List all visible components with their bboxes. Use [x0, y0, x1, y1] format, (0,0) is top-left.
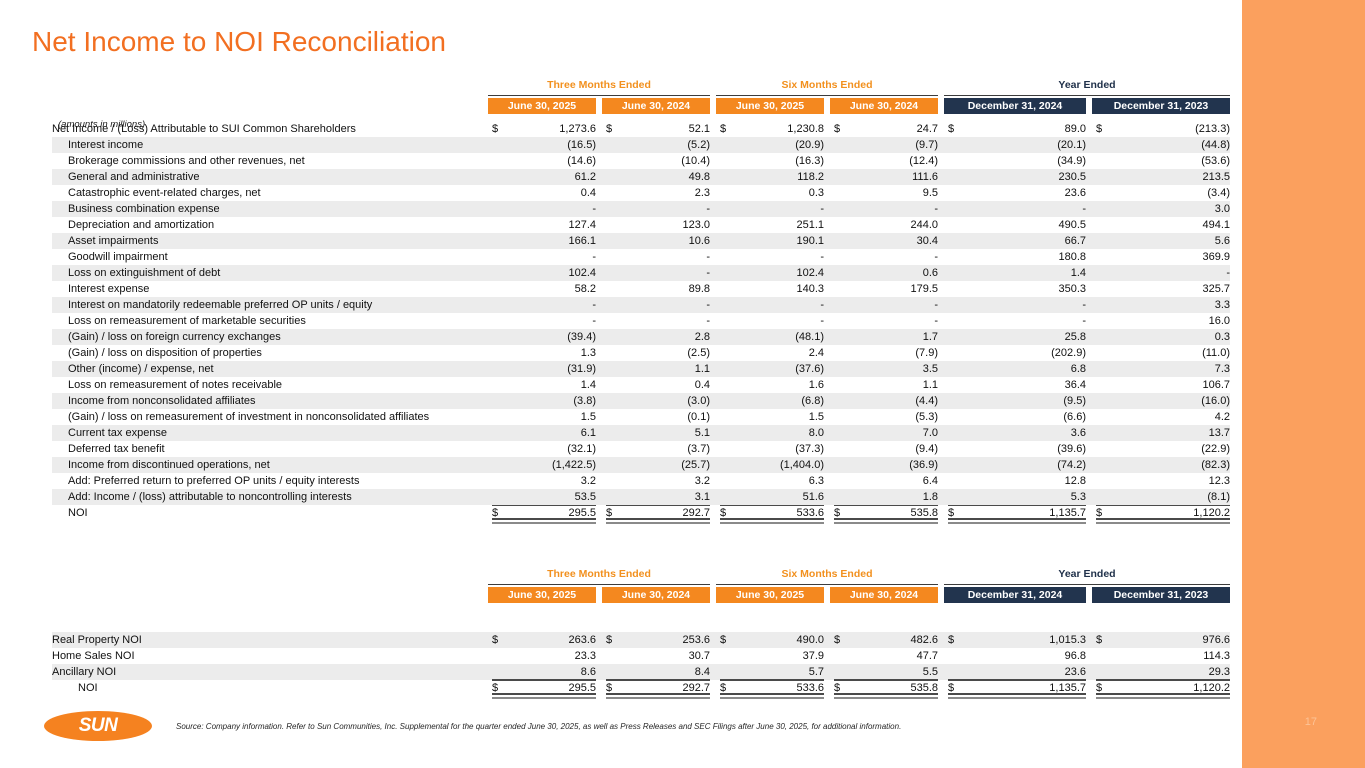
table-cell: 24.7	[842, 121, 938, 137]
table-cell: 3.5	[842, 361, 938, 377]
table-cell: (12.4)	[842, 153, 938, 169]
table-cell: -	[842, 201, 938, 217]
row-label: Catastrophic event-related charges, net	[52, 185, 261, 201]
table-row: Interest income(16.5)(5.2)(20.9)(9.7)(20…	[52, 137, 1230, 153]
total-rule-bottom-1	[834, 693, 938, 694]
table-cell: -	[614, 313, 710, 329]
column-header-4: June 30, 2024	[830, 587, 938, 603]
table-cell: 253.6	[614, 632, 710, 648]
table-cell: 5.6	[1104, 233, 1230, 249]
total-rule-bottom-1	[948, 518, 1086, 519]
table-row: Catastrophic event-related charges, net0…	[52, 185, 1230, 201]
table-row: Home Sales NOI23.330.737.947.796.8114.3	[52, 648, 1230, 664]
table-cell: 8.4	[614, 664, 710, 680]
row-label: Loss on remeasurement of notes receivabl…	[52, 377, 282, 393]
row-label: Add: Preferred return to preferred OP un…	[52, 473, 359, 489]
table-cell: 96.8	[956, 648, 1086, 664]
table-cell: (1,422.5)	[500, 457, 596, 473]
currency-symbol: $	[606, 632, 612, 648]
table-cell: (39.4)	[500, 329, 596, 345]
table-cell: 0.4	[614, 377, 710, 393]
column-header-6: December 31, 2023	[1092, 587, 1230, 603]
currency-symbol: $	[1096, 121, 1102, 137]
table-cell: -	[956, 297, 1086, 313]
table-cell: 6.4	[842, 473, 938, 489]
table-cell: (213.3)	[1104, 121, 1230, 137]
table-cell: 5.5	[842, 664, 938, 680]
table-row: NOI$295.5$292.7$533.6$535.8$1,135.7$1,12…	[52, 505, 1230, 521]
table-cell: (44.8)	[1104, 137, 1230, 153]
table-cell: (14.6)	[500, 153, 596, 169]
table-cell: 494.1	[1104, 217, 1230, 233]
total-rule-top	[834, 505, 938, 506]
table-cell: 102.4	[500, 265, 596, 281]
total-rule-bottom-2	[948, 522, 1086, 523]
header-group-1: Three Months Ended	[488, 567, 710, 585]
column-header-1: June 30, 2025	[488, 98, 596, 114]
table-row: Real Property NOI$263.6$253.6$490.0$482.…	[52, 632, 1230, 648]
row-label: (Gain) / loss on disposition of properti…	[52, 345, 262, 361]
table-row: Income from discontinued operations, net…	[52, 457, 1230, 473]
table-cell: 9.5	[842, 185, 938, 201]
table-cell: -	[500, 201, 596, 217]
table-cell: (7.9)	[842, 345, 938, 361]
total-rule-bottom-1	[834, 518, 938, 519]
table-cell: (39.6)	[956, 441, 1086, 457]
total-rule-top	[1096, 680, 1230, 681]
row-label: Other (income) / expense, net	[52, 361, 214, 377]
table-cell: -	[842, 297, 938, 313]
row-label: Ancillary NOI	[52, 664, 116, 680]
table-cell: 251.1	[728, 217, 824, 233]
header-group-3: Year Ended	[944, 78, 1230, 96]
table-cell: 36.4	[956, 377, 1086, 393]
table-cell: (9.7)	[842, 137, 938, 153]
row-label: Business combination expense	[52, 201, 220, 217]
table-cell: 1.8	[842, 489, 938, 505]
table-row: (Gain) / loss on disposition of properti…	[52, 345, 1230, 361]
table-cell: (20.9)	[728, 137, 824, 153]
table-cell: (1,404.0)	[728, 457, 824, 473]
table-row: Income from nonconsolidated affiliates(3…	[52, 393, 1230, 409]
table-cell: (32.1)	[500, 441, 596, 457]
table-cell: 350.3	[956, 281, 1086, 297]
row-label: Home Sales NOI	[52, 648, 135, 664]
table-cell: -	[614, 297, 710, 313]
total-rule-top	[1096, 505, 1230, 506]
total-rule-bottom-1	[492, 693, 596, 694]
table-row: Loss on extinguishment of debt102.4-102.…	[52, 265, 1230, 281]
table-cell: 8.0	[728, 425, 824, 441]
table-cell: 37.9	[728, 648, 824, 664]
row-label: Net Income / (Loss) Attributable to SUI …	[52, 121, 356, 137]
currency-symbol: $	[1096, 632, 1102, 648]
table-cell: -	[842, 249, 938, 265]
table-cell: 1,015.3	[956, 632, 1086, 648]
table-cell: 213.5	[1104, 169, 1230, 185]
total-rule-top	[720, 680, 824, 681]
table-cell: 244.0	[842, 217, 938, 233]
table-cell: 118.2	[728, 169, 824, 185]
table-cell: 2.8	[614, 329, 710, 345]
table-cell: -	[1104, 265, 1230, 281]
total-rule-bottom-2	[948, 697, 1086, 698]
table-cell: 127.4	[500, 217, 596, 233]
total-rule-bottom-1	[606, 693, 710, 694]
table-cell: 369.9	[1104, 249, 1230, 265]
table-cell: 1.1	[614, 361, 710, 377]
total-rule-bottom-2	[834, 522, 938, 523]
row-label: Income from discontinued operations, net	[52, 457, 270, 473]
table-cell: 106.7	[1104, 377, 1230, 393]
total-rule-bottom-2	[720, 522, 824, 523]
table-cell: (3.8)	[500, 393, 596, 409]
total-rule-bottom-1	[606, 518, 710, 519]
table-cell: 482.6	[842, 632, 938, 648]
table-cell: (48.1)	[728, 329, 824, 345]
table-cell: (53.6)	[1104, 153, 1230, 169]
table-row: NOI$295.5$292.7$533.6$535.8$1,135.7$1,12…	[52, 680, 1230, 696]
table-cell: 180.8	[956, 249, 1086, 265]
table2-header-groups: Three Months EndedSix Months EndedYear E…	[52, 567, 1230, 587]
table-cell: (34.9)	[956, 153, 1086, 169]
table-cell: (37.3)	[728, 441, 824, 457]
table-cell: 23.6	[956, 185, 1086, 201]
column-header-2: June 30, 2024	[602, 98, 710, 114]
table-cell: (2.5)	[614, 345, 710, 361]
table-cell: 49.8	[614, 169, 710, 185]
row-label: Loss on extinguishment of debt	[52, 265, 220, 281]
table-spacer	[52, 604, 1230, 632]
header-group-2: Six Months Ended	[716, 78, 938, 96]
table-cell: 8.6	[500, 664, 596, 680]
table-cell: -	[842, 313, 938, 329]
column-header-6: December 31, 2023	[1092, 98, 1230, 114]
table2-rows: Real Property NOI$263.6$253.6$490.0$482.…	[52, 604, 1230, 696]
table-row: Net Income / (Loss) Attributable to SUI …	[52, 121, 1230, 137]
row-label: Loss on remeasurement of marketable secu…	[52, 313, 306, 329]
table-cell: (10.4)	[614, 153, 710, 169]
currency-symbol: $	[720, 121, 726, 137]
total-rule-top	[834, 680, 938, 681]
table-cell: (31.9)	[500, 361, 596, 377]
table-cell: (4.4)	[842, 393, 938, 409]
header-group-1: Three Months Ended	[488, 78, 710, 96]
table-cell: 140.3	[728, 281, 824, 297]
total-rule-bottom-2	[1096, 697, 1230, 698]
table-cell: 0.6	[842, 265, 938, 281]
table-cell: 2.3	[614, 185, 710, 201]
table-cell: 30.7	[614, 648, 710, 664]
table-cell: (6.6)	[956, 409, 1086, 425]
table-cell: (16.5)	[500, 137, 596, 153]
right-accent-band	[1242, 0, 1365, 768]
table1-header-groups: Three Months EndedSix Months EndedYear E…	[52, 78, 1230, 98]
table-cell: -	[614, 201, 710, 217]
table-cell: (20.1)	[956, 137, 1086, 153]
table-cell: -	[500, 297, 596, 313]
table-row: Brokerage commissions and other revenues…	[52, 153, 1230, 169]
table-cell: 0.4	[500, 185, 596, 201]
row-label: General and administrative	[52, 169, 199, 185]
total-rule-top	[492, 505, 596, 506]
table-cell: 5.1	[614, 425, 710, 441]
total-rule-bottom-2	[720, 697, 824, 698]
table-cell: (11.0)	[1104, 345, 1230, 361]
total-rule-top	[720, 505, 824, 506]
table-cell: 66.7	[956, 233, 1086, 249]
table-cell: (6.8)	[728, 393, 824, 409]
table-cell: -	[500, 249, 596, 265]
table-cell: 490.5	[956, 217, 1086, 233]
table-cell: 7.3	[1104, 361, 1230, 377]
currency-symbol: $	[948, 632, 954, 648]
table-row: Asset impairments166.110.6190.130.466.75…	[52, 233, 1230, 249]
table1-rows: Net Income / (Loss) Attributable to SUI …	[52, 115, 1230, 521]
total-rule-bottom-1	[720, 693, 824, 694]
table-cell: (3.7)	[614, 441, 710, 457]
table-cell: 53.5	[500, 489, 596, 505]
table-cell: 23.3	[500, 648, 596, 664]
table-cell: 5.7	[728, 664, 824, 680]
row-label: Deferred tax benefit	[52, 441, 165, 457]
table-cell: 1,230.8	[728, 121, 824, 137]
total-rule-top	[606, 680, 710, 681]
table-row: (Gain) / loss on foreign currency exchan…	[52, 329, 1230, 345]
slide-root: 17 Net Income to NOI Reconciliation (amo…	[0, 0, 1365, 768]
currency-symbol: $	[492, 632, 498, 648]
column-header-5: December 31, 2024	[944, 587, 1086, 603]
table-cell: 16.0	[1104, 313, 1230, 329]
table-row: Loss on remeasurement of notes receivabl…	[52, 377, 1230, 393]
table-cell: 23.6	[956, 664, 1086, 680]
table-cell: 1.5	[728, 409, 824, 425]
logo-text: SUN	[44, 711, 152, 741]
column-header-3: June 30, 2025	[716, 587, 824, 603]
table-cell: 230.5	[956, 169, 1086, 185]
row-label: Depreciation and amortization	[52, 217, 214, 233]
column-header-1: June 30, 2025	[488, 587, 596, 603]
table-cell: (3.4)	[1104, 185, 1230, 201]
table-cell: 0.3	[1104, 329, 1230, 345]
table-cell: 12.3	[1104, 473, 1230, 489]
total-rule-top	[948, 505, 1086, 506]
table-cell: (16.0)	[1104, 393, 1230, 409]
page-number: 17	[1305, 716, 1317, 728]
total-rule-bottom-2	[606, 697, 710, 698]
table-row: Ancillary NOI8.68.45.75.523.629.3	[52, 664, 1230, 680]
column-header-2: June 30, 2024	[602, 587, 710, 603]
table-cell: 114.3	[1104, 648, 1230, 664]
currency-symbol: $	[834, 121, 840, 137]
table2-header-columns: June 30, 2025June 30, 2024June 30, 2025J…	[52, 587, 1230, 604]
table-row: Other (income) / expense, net(31.9)1.1(3…	[52, 361, 1230, 377]
total-rule-top	[492, 680, 596, 681]
table-cell: (0.1)	[614, 409, 710, 425]
row-label: Current tax expense	[52, 425, 167, 441]
row-label: NOI	[52, 680, 98, 696]
row-label: Income from nonconsolidated affiliates	[52, 393, 256, 409]
table-cell: 190.1	[728, 233, 824, 249]
table-row: Business combination expense-----3.0	[52, 201, 1230, 217]
table-row: Add: Preferred return to preferred OP un…	[52, 473, 1230, 489]
table-cell: (5.2)	[614, 137, 710, 153]
total-rule-bottom-2	[492, 522, 596, 523]
row-label: Brokerage commissions and other revenues…	[52, 153, 305, 169]
table-cell: -	[500, 313, 596, 329]
column-header-5: December 31, 2024	[944, 98, 1086, 114]
noi-components-table: Three Months EndedSix Months EndedYear E…	[52, 567, 1230, 696]
table-row: Interest expense58.289.8140.3179.5350.33…	[52, 281, 1230, 297]
table-cell: 6.1	[500, 425, 596, 441]
total-rule-bottom-1	[492, 518, 596, 519]
total-rule-bottom-1	[720, 518, 824, 519]
table-cell: 0.3	[728, 185, 824, 201]
currency-symbol: $	[834, 632, 840, 648]
total-rule-bottom-1	[1096, 518, 1230, 519]
column-header-3: June 30, 2025	[716, 98, 824, 114]
table-cell: 3.0	[1104, 201, 1230, 217]
table-cell: (82.3)	[1104, 457, 1230, 473]
table-cell: (5.3)	[842, 409, 938, 425]
table-cell: 6.8	[956, 361, 1086, 377]
table-cell: 2.4	[728, 345, 824, 361]
table-cell: 976.6	[1104, 632, 1230, 648]
table-cell: (22.9)	[1104, 441, 1230, 457]
table-cell: 12.8	[956, 473, 1086, 489]
table-cell: (202.9)	[956, 345, 1086, 361]
table-cell: (25.7)	[614, 457, 710, 473]
total-rule-top	[948, 680, 1086, 681]
table-cell: -	[728, 313, 824, 329]
table-cell: 1.1	[842, 377, 938, 393]
total-rule-bottom-1	[1096, 693, 1230, 694]
table-cell: 111.6	[842, 169, 938, 185]
table-cell: 102.4	[728, 265, 824, 281]
row-label: NOI	[52, 505, 88, 521]
table-cell: -	[728, 249, 824, 265]
table-cell: (74.2)	[956, 457, 1086, 473]
table1-header-columns: June 30, 2025June 30, 2024June 30, 2025J…	[52, 98, 1230, 115]
table-cell: (37.6)	[728, 361, 824, 377]
table-row: Depreciation and amortization127.4123.02…	[52, 217, 1230, 233]
sun-communities-logo: SUN	[44, 711, 152, 741]
table-row: Add: Income / (loss) attributable to non…	[52, 489, 1230, 505]
table-cell: 13.7	[1104, 425, 1230, 441]
table-cell: -	[728, 201, 824, 217]
total-rule-bottom-2	[1096, 522, 1230, 523]
table-cell: -	[956, 313, 1086, 329]
table-cell: (9.4)	[842, 441, 938, 457]
table-cell: (8.1)	[1104, 489, 1230, 505]
table-cell: (3.0)	[614, 393, 710, 409]
net-income-to-noi-table: Three Months EndedSix Months EndedYear E…	[52, 78, 1230, 521]
table-cell: 1,273.6	[500, 121, 596, 137]
table-cell: 30.4	[842, 233, 938, 249]
table-cell: 47.7	[842, 648, 938, 664]
table-cell: 3.3	[1104, 297, 1230, 313]
table-row: (Gain) / loss on remeasurement of invest…	[52, 409, 1230, 425]
table-row: Loss on remeasurement of marketable secu…	[52, 313, 1230, 329]
source-note: Source: Company information. Refer to Su…	[176, 722, 901, 731]
table-cell: (36.9)	[842, 457, 938, 473]
table-row: Current tax expense6.15.18.07.03.613.7	[52, 425, 1230, 441]
table-cell: 123.0	[614, 217, 710, 233]
table-cell: 52.1	[614, 121, 710, 137]
table-cell: 3.6	[956, 425, 1086, 441]
table-cell: 89.8	[614, 281, 710, 297]
header-group-3: Year Ended	[944, 567, 1230, 585]
table-row: General and administrative61.249.8118.21…	[52, 169, 1230, 185]
currency-symbol: $	[948, 121, 954, 137]
table-cell: 6.3	[728, 473, 824, 489]
table-cell: 1.6	[728, 377, 824, 393]
table-cell: 166.1	[500, 233, 596, 249]
table-cell: 1.7	[842, 329, 938, 345]
table-cell: 61.2	[500, 169, 596, 185]
table-cell: 25.8	[956, 329, 1086, 345]
row-label: Interest expense	[52, 281, 149, 297]
table-cell: (16.3)	[728, 153, 824, 169]
row-label: (Gain) / loss on foreign currency exchan…	[52, 329, 281, 345]
total-rule-bottom-2	[492, 697, 596, 698]
page-title: Net Income to NOI Reconciliation	[32, 26, 446, 58]
table-cell: 7.0	[842, 425, 938, 441]
table-cell: 1.4	[956, 265, 1086, 281]
table-cell: 490.0	[728, 632, 824, 648]
total-rule-top	[606, 505, 710, 506]
table-cell: 5.3	[956, 489, 1086, 505]
table-cell: 263.6	[500, 632, 596, 648]
table-cell: -	[728, 297, 824, 313]
table-cell: 3.1	[614, 489, 710, 505]
table-cell: 325.7	[1104, 281, 1230, 297]
table-cell: -	[614, 265, 710, 281]
row-label: Interest on mandatorily redeemable prefe…	[52, 297, 372, 313]
table-cell: 4.2	[1104, 409, 1230, 425]
table-row: Deferred tax benefit(32.1)(3.7)(37.3)(9.…	[52, 441, 1230, 457]
table-cell: -	[956, 201, 1086, 217]
total-rule-bottom-2	[834, 697, 938, 698]
table-cell: 1.4	[500, 377, 596, 393]
table-cell: 10.6	[614, 233, 710, 249]
table-cell: 89.0	[956, 121, 1086, 137]
table-row: Interest on mandatorily redeemable prefe…	[52, 297, 1230, 313]
currency-symbol: $	[720, 632, 726, 648]
row-label: Add: Income / (loss) attributable to non…	[52, 489, 352, 505]
table-cell: 1.5	[500, 409, 596, 425]
header-group-2: Six Months Ended	[716, 567, 938, 585]
currency-symbol: $	[606, 121, 612, 137]
total-rule-bottom-1	[948, 693, 1086, 694]
row-label: Interest income	[52, 137, 143, 153]
row-label: Asset impairments	[52, 233, 158, 249]
row-label: Goodwill impairment	[52, 249, 168, 265]
table-cell: 51.6	[728, 489, 824, 505]
total-rule-bottom-2	[606, 522, 710, 523]
table-cell: 1.3	[500, 345, 596, 361]
table-row: Goodwill impairment----180.8369.9	[52, 249, 1230, 265]
table-cell: (9.5)	[956, 393, 1086, 409]
table-cell: 29.3	[1104, 664, 1230, 680]
column-header-4: June 30, 2024	[830, 98, 938, 114]
table-cell: 3.2	[614, 473, 710, 489]
table-cell: 3.2	[500, 473, 596, 489]
row-label: Real Property NOI	[52, 632, 142, 648]
table-cell: 58.2	[500, 281, 596, 297]
table-cell: -	[614, 249, 710, 265]
row-label: (Gain) / loss on remeasurement of invest…	[52, 409, 429, 425]
